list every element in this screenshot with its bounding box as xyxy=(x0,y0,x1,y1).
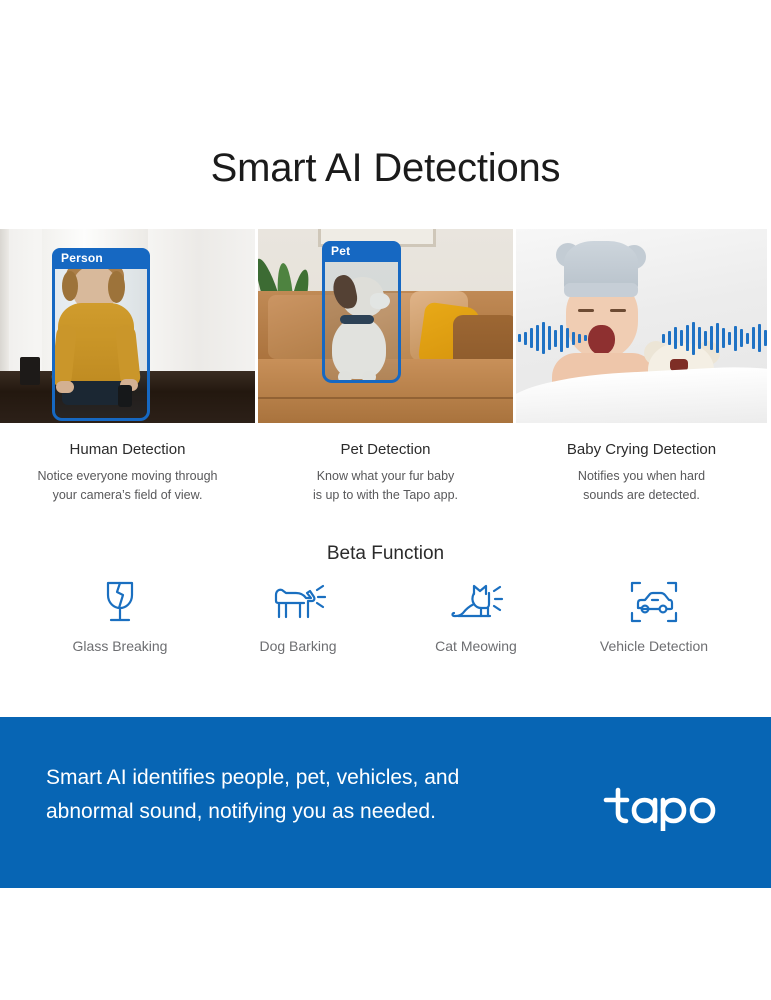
beta-item-vehicle-detection[interactable]: Vehicle Detection xyxy=(568,578,740,654)
baby-crying-detection-description: Notifies you when hard sounds are detect… xyxy=(516,467,767,506)
waveform-bar xyxy=(758,324,761,352)
banner-text-line1: Smart AI identifies people, pet, vehicle… xyxy=(46,766,459,789)
detection-card-pet: Pet Pet Detection Know what your fur bab… xyxy=(258,229,513,506)
pet-detection-description: Know what your fur baby is up to with th… xyxy=(258,467,513,506)
beta-function-list: Glass Breaking Dog Barking xyxy=(34,578,740,654)
waveform-bar xyxy=(542,322,545,354)
detection-box-pet: Pet xyxy=(322,241,401,383)
human-detection-description-line2: your camera’s field of view. xyxy=(53,488,203,502)
footer-banner: Smart AI identifies people, pet, vehicle… xyxy=(0,717,771,888)
detection-cards: Person Human Detection Notice everyone m… xyxy=(0,229,771,506)
waveform-bar xyxy=(548,326,551,350)
audio-waveform-left xyxy=(518,321,587,355)
broken-glass-icon xyxy=(34,578,206,626)
waveform-bar xyxy=(716,323,719,353)
detection-box-person: Person xyxy=(52,248,150,421)
pet-detection-description-line1: Know what your fur baby xyxy=(317,469,455,483)
baby-crying-detection-description-line2: sounds are detected. xyxy=(583,488,700,502)
waveform-bar xyxy=(536,325,539,351)
human-detection-photo: Person xyxy=(0,229,255,423)
waveform-bar xyxy=(518,334,521,342)
banner-text: Smart AI identifies people, pet, vehicle… xyxy=(46,761,546,829)
sofa-seam xyxy=(258,397,513,399)
pet-detection-description-line2: is up to with the Tapo app. xyxy=(313,488,458,502)
waveform-bar xyxy=(698,327,701,349)
banner-text-line2: abnormal sound, notifying you as needed. xyxy=(46,800,436,823)
pet-detection-title: Pet Detection xyxy=(258,441,513,458)
baby-crying-detection-description-line1: Notifies you when hard xyxy=(578,469,705,483)
detection-tag-pet: Pet xyxy=(322,241,401,262)
tapo-logo xyxy=(603,787,729,831)
pet-detection-photo: Pet xyxy=(258,229,513,423)
human-detection-description: Notice everyone moving through your came… xyxy=(0,467,255,506)
waveform-bar xyxy=(722,328,725,348)
beta-item-glass-breaking[interactable]: Glass Breaking xyxy=(34,578,206,654)
waveform-bar xyxy=(674,327,677,349)
beta-function-heading: Beta Function xyxy=(0,543,771,565)
dog-barking-icon xyxy=(212,578,384,626)
waveform-bar xyxy=(566,328,569,348)
waveform-bar xyxy=(734,326,737,351)
waveform-bar xyxy=(680,330,683,346)
baby-crying-detection-title: Baby Crying Detection xyxy=(516,441,767,458)
detection-card-baby: Baby Crying Detection Notifies you when … xyxy=(516,229,767,506)
detection-tag-person: Person xyxy=(52,248,150,269)
waveform-bar xyxy=(746,333,749,344)
waveform-bar xyxy=(728,332,731,345)
baby-crying-detection-photo xyxy=(516,229,767,423)
waveform-bar xyxy=(524,332,527,345)
cat-meowing-icon xyxy=(390,578,562,626)
marketing-page: Smart AI Detections P xyxy=(0,0,771,1000)
waveform-bar xyxy=(560,325,563,352)
waveform-bar xyxy=(752,327,755,349)
waveform-bar xyxy=(692,322,695,355)
baby-eye-right xyxy=(610,309,626,312)
human-detection-title: Human Detection xyxy=(0,441,255,458)
vehicle-detection-icon xyxy=(568,578,740,626)
page-title: Smart AI Detections xyxy=(0,146,771,191)
speaker-object xyxy=(20,357,40,385)
baby-eye-left xyxy=(578,309,594,312)
detection-card-human: Person Human Detection Notice everyone m… xyxy=(0,229,255,506)
audio-waveform-right xyxy=(662,321,767,355)
beta-label-dog-barking: Dog Barking xyxy=(212,638,384,654)
waveform-bar xyxy=(710,326,713,350)
beta-item-dog-barking[interactable]: Dog Barking xyxy=(212,578,384,654)
human-detection-description-line1: Notice everyone moving through xyxy=(38,469,218,483)
waveform-bar xyxy=(704,331,707,346)
waveform-bar xyxy=(530,328,533,348)
waveform-bar xyxy=(668,331,671,345)
waveform-bar xyxy=(764,330,767,346)
beta-label-glass-breaking: Glass Breaking xyxy=(34,638,206,654)
baby-mouth xyxy=(588,325,615,355)
waveform-bar xyxy=(662,334,665,343)
beta-item-cat-meowing[interactable]: Cat Meowing xyxy=(390,578,562,654)
waveform-bar xyxy=(686,325,689,351)
waveform-bar xyxy=(584,335,587,341)
beta-label-vehicle-detection: Vehicle Detection xyxy=(568,638,740,654)
waveform-bar xyxy=(740,329,743,347)
waveform-bar xyxy=(554,330,557,347)
waveform-bar xyxy=(572,332,575,345)
baby-hat-brim xyxy=(564,283,638,297)
beta-label-cat-meowing: Cat Meowing xyxy=(390,638,562,654)
waveform-bar xyxy=(578,334,581,343)
